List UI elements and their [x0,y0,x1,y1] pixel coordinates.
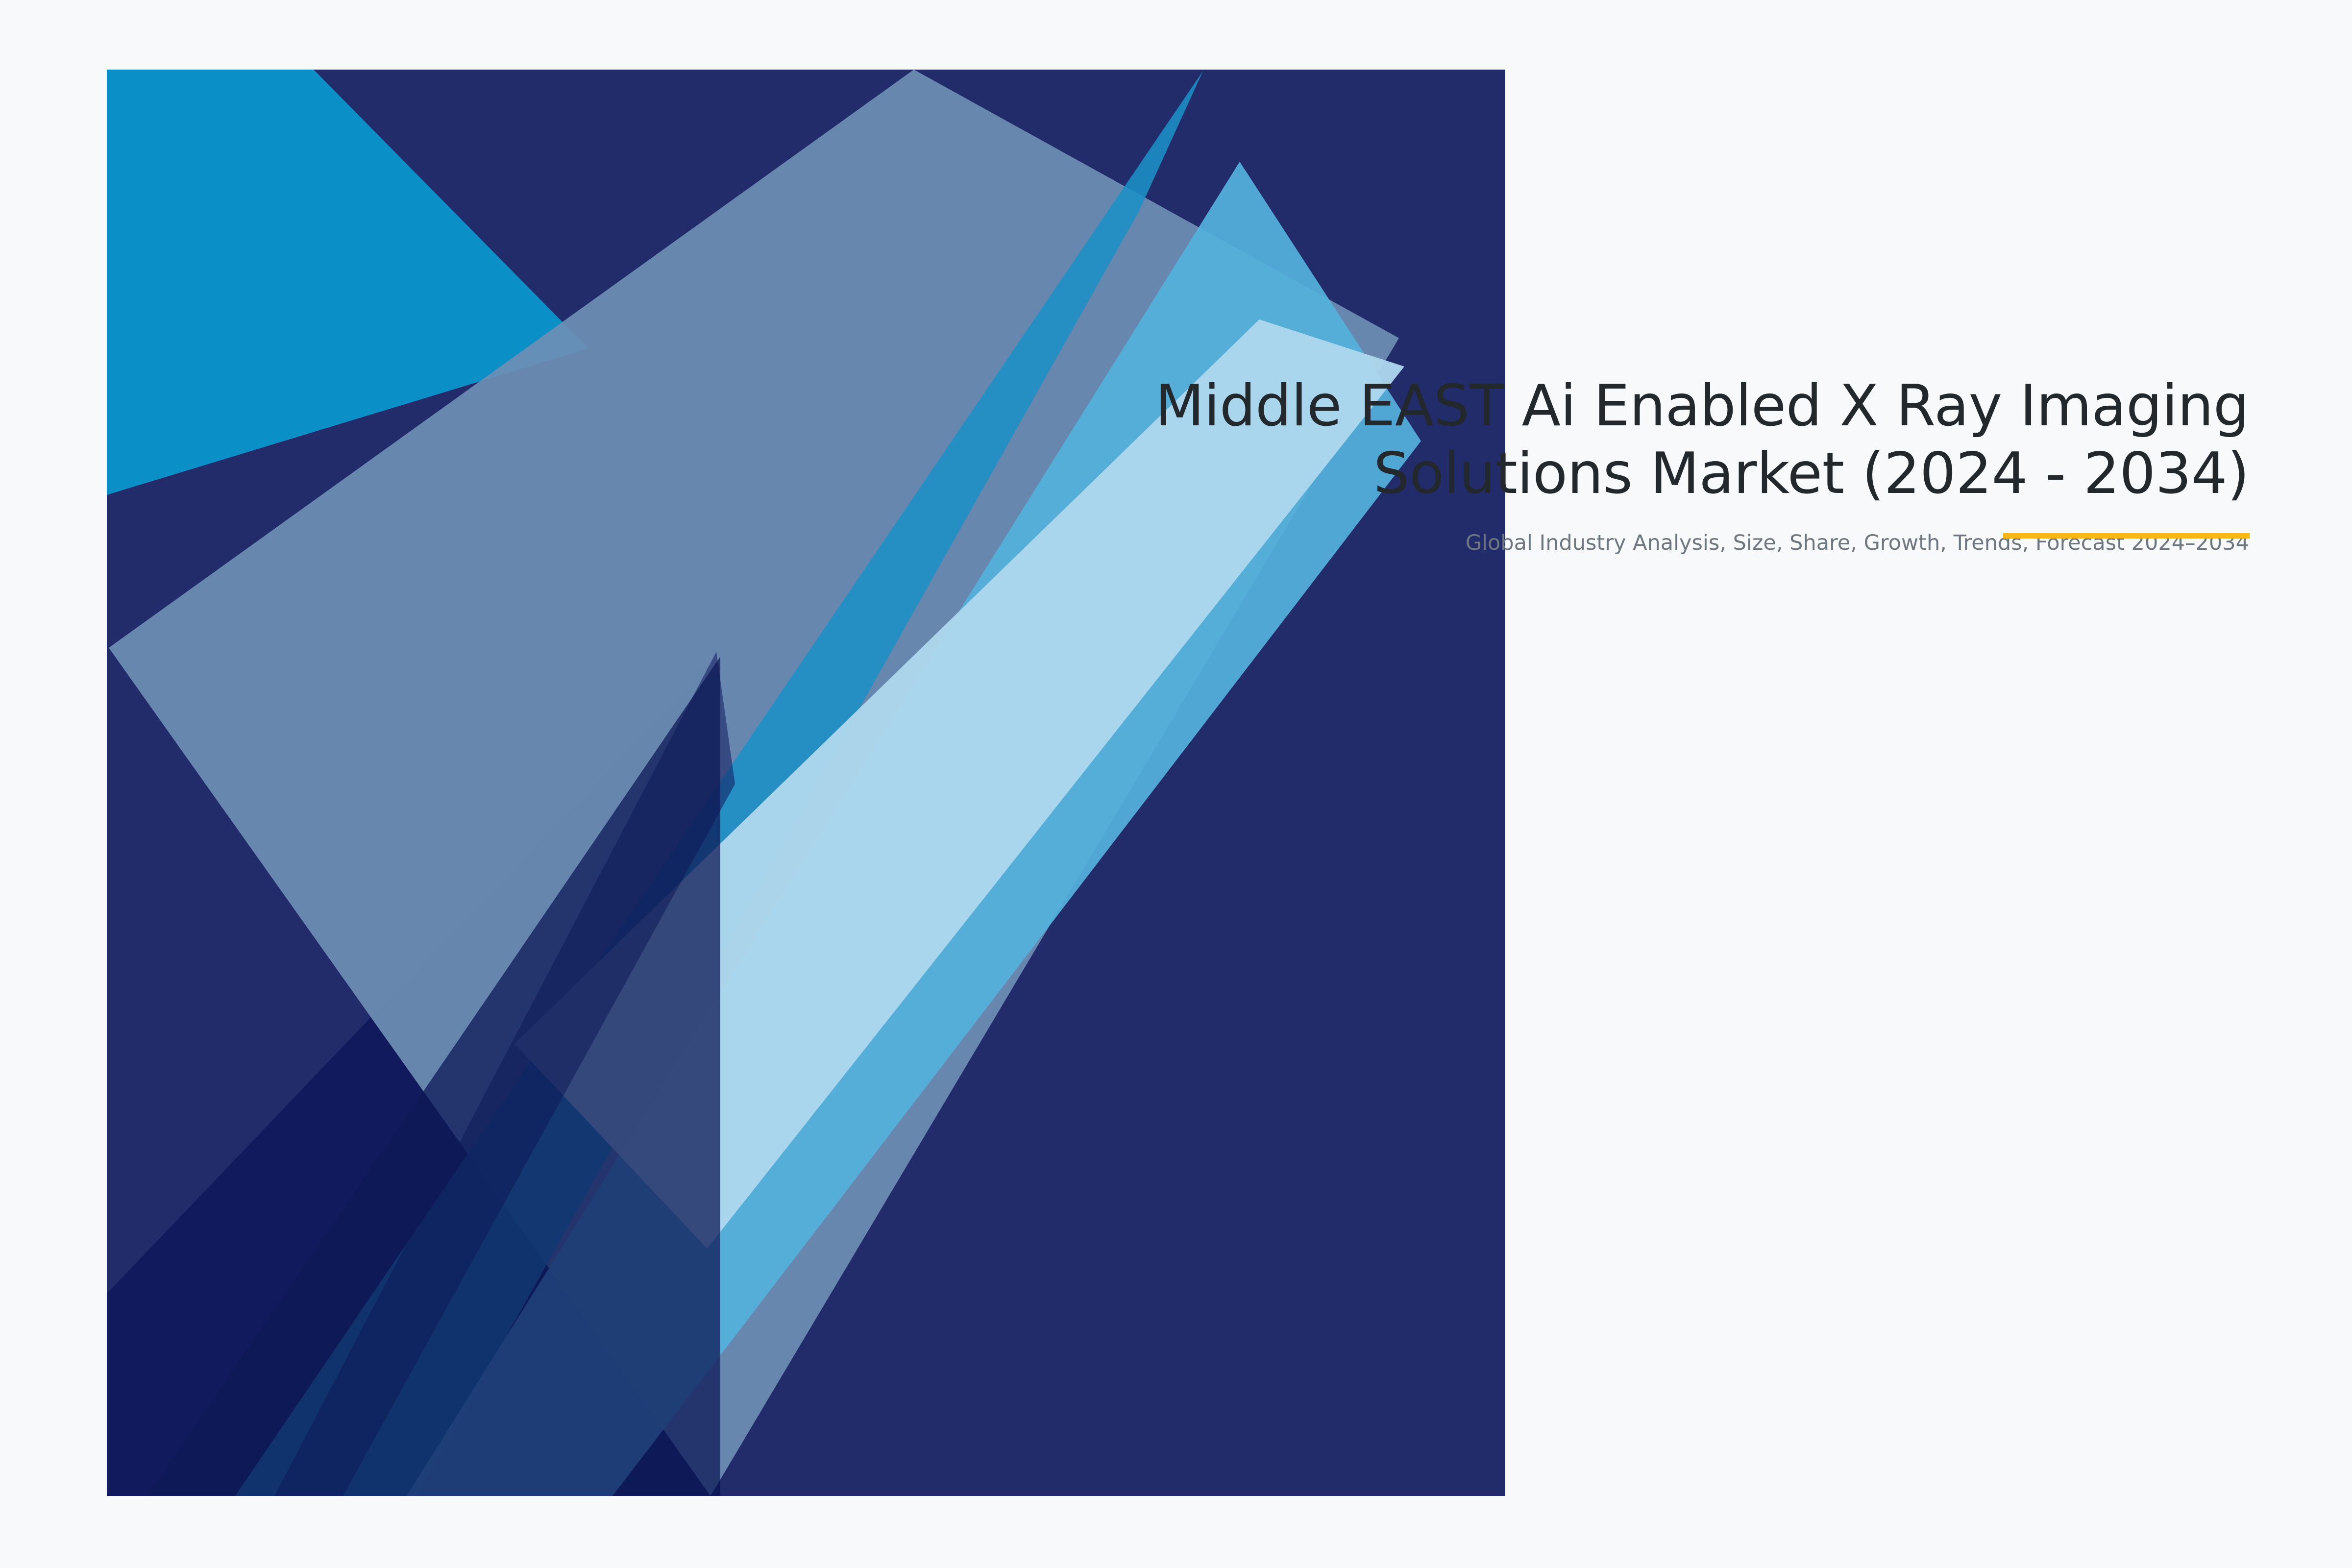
shape-steel-blue-quad [109,70,1399,1496]
cover-text-block: Middle EAST Ai Enabled X Ray Imaging Sol… [1024,372,2249,558]
shape-deep-navy-body [107,652,720,1496]
shape-sky-blue-beam [407,162,1421,1496]
shape-navy-spike [274,652,735,1496]
cover-artwork [0,0,2352,1568]
shape-cyan-base [107,70,1505,1496]
shape-deep-navy-wedge [147,657,720,1496]
report-cover: Middle EAST Ai Enabled X Ray Imaging Sol… [0,0,2352,1568]
shape-cyan-spire [235,71,1203,1496]
title-accent-underline [2003,533,2250,539]
shape-navy-band [107,70,1505,1496]
page-title: Middle EAST Ai Enabled X Ray Imaging Sol… [1024,372,2249,508]
